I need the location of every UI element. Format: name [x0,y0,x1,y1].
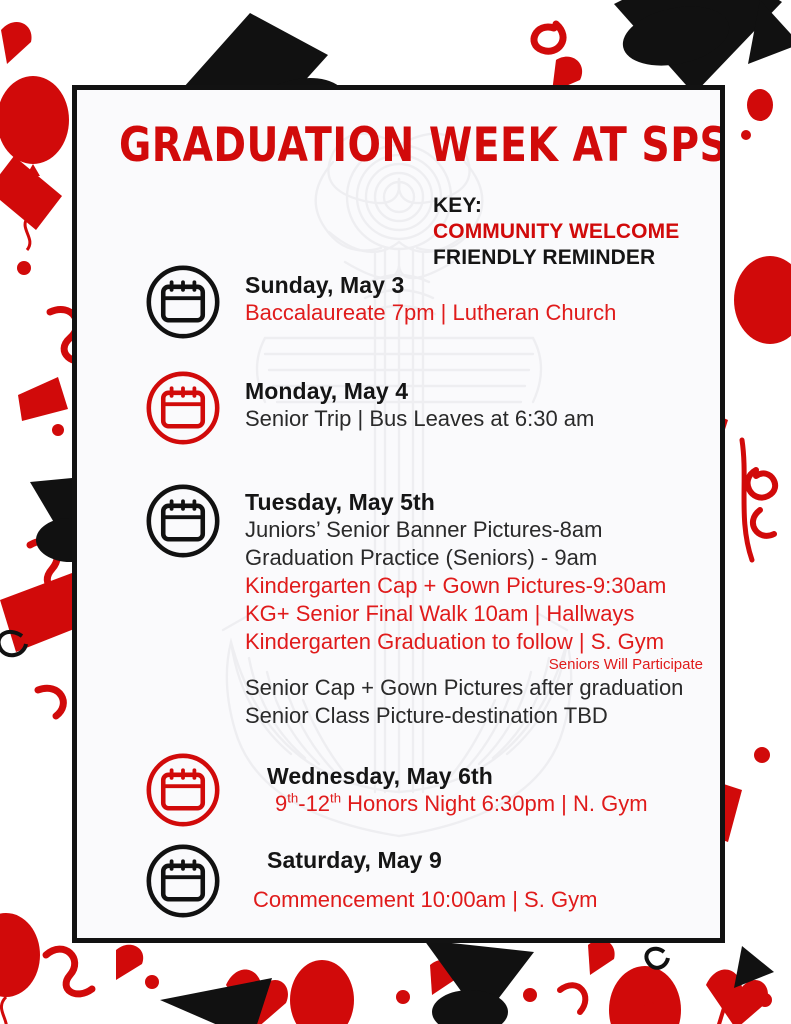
ordinal-suffix: th [287,791,298,806]
event-line: Senior Class Picture-destination TBD [245,702,715,730]
grade-range-start: 9 [275,791,287,816]
event-line: 9th-12th Honors Night 6:30pm | N. Gym [245,790,715,818]
event-day: Sunday, May 3 [245,272,715,299]
event-monday: Monday, May 4 Senior Trip | Bus Leaves a… [245,378,715,433]
calendar-icon [145,752,221,828]
event-line: Juniors’ Senior Banner Pictures-8am [245,516,715,544]
event-line: Senior Cap + Gown Pictures after graduat… [245,674,715,702]
event-line: Kindergarten Cap + Gown Pictures-9:30am [245,572,715,600]
event-line: Kindergarten Graduation to follow | S. G… [245,628,715,656]
calendar-icon [145,483,221,559]
calendar-icon [145,843,221,919]
honors-night-text: Honors Night 6:30pm | N. Gym [341,791,648,816]
event-day: Wednesday, May 6th [245,763,715,790]
key-legend: KEY: COMMUNITY WELCOME FRIENDLY REMINDER [433,193,679,271]
poster-card: GRADUATION WEEK AT SPS KEY: COMMUNITY WE… [72,85,725,943]
event-saturday: Saturday, May 9 Commencement 10:00am | S… [245,847,715,914]
event-sunday: Sunday, May 3 Baccalaureate 7pm | Luther… [245,272,715,327]
key-community-welcome: COMMUNITY WELCOME [433,219,679,245]
calendar-icon [145,370,221,446]
ordinal-suffix: th [330,791,341,806]
key-friendly-reminder: FRIENDLY REMINDER [433,245,679,271]
key-label: KEY: [433,193,679,219]
page-title: GRADUATION WEEK AT SPS [119,122,658,169]
calendar-icon [145,264,221,340]
event-line: KG+ Senior Final Walk 10am | Hallways [245,600,715,628]
event-tuesday: Tuesday, May 5th Juniors’ Senior Banner … [245,489,715,730]
event-line: Graduation Practice (Seniors) - 9am [245,544,715,572]
event-wednesday: Wednesday, May 6th 9th-12th Honors Night… [245,763,715,818]
event-line: Baccalaureate 7pm | Lutheran Church [245,299,715,327]
event-line: Senior Trip | Bus Leaves at 6:30 am [245,405,715,433]
grade-range-dash: -12 [298,791,330,816]
event-day: Tuesday, May 5th [245,489,715,516]
event-line: Commencement 10:00am | S. Gym [245,886,715,914]
event-day: Saturday, May 9 [245,847,715,874]
seniors-participate-note: Seniors Will Participate [245,656,715,674]
event-day: Monday, May 4 [245,378,715,405]
